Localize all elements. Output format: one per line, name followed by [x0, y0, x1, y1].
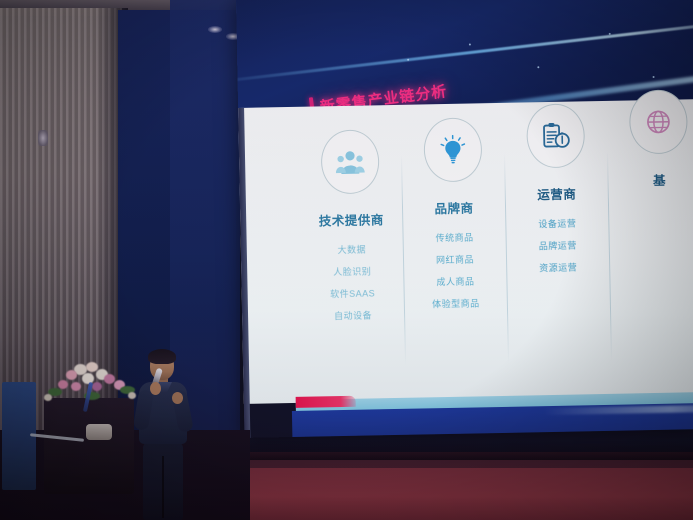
slide-footer-pink-accent [296, 396, 356, 408]
led-screen: 新零售产业链分析 技术提供商 大数据 [236, 0, 693, 438]
globe-grid-icon [629, 89, 688, 154]
slide-column-operator: 运营商 设备运营 品牌运营 资源运营 [504, 103, 612, 403]
column-item: 人脸识别 [330, 264, 375, 278]
column-title: 品牌商 [434, 197, 473, 217]
presenter-hair [148, 349, 176, 364]
presenter-right-hand [172, 392, 183, 404]
column-item: 自动设备 [330, 308, 375, 322]
column-item: 成人商品 [432, 274, 480, 288]
column-title: 技术提供商 [319, 209, 384, 229]
slide-column-infrastructure: 基 [607, 89, 693, 401]
users-group-icon [321, 129, 380, 194]
lightbulb-idea-icon [423, 117, 482, 182]
bokeh-dot [653, 76, 655, 78]
presenter-leg-split [162, 456, 164, 518]
column-item: 软件SAAS [330, 286, 375, 300]
presenter-left-hand [150, 382, 161, 395]
column-title: 基 [653, 170, 666, 189]
column-items: 大数据 人脸识别 软件SAAS 自动设备 [329, 242, 376, 322]
column-item: 大数据 [329, 242, 374, 256]
column-items: 设备运营 品牌运营 资源运营 [538, 217, 577, 275]
ceiling-light [208, 26, 222, 33]
slide-column-brand: 品牌商 传统商品 网红商品 成人商品 体验型商品 [401, 117, 508, 405]
column-item: 体验型商品 [432, 296, 480, 310]
column-item: 网红商品 [431, 252, 479, 266]
column-title: 运营商 [537, 184, 576, 204]
podium [44, 398, 134, 494]
slide-column-tech-provider: 技术提供商 大数据 人脸识别 软件SAAS 自动设备 [299, 129, 406, 407]
conference-photo: 新零售产业链分析 技术提供商 大数据 [0, 0, 693, 520]
column-item: 传统商品 [431, 230, 479, 244]
column-item: 设备运营 [538, 217, 576, 231]
bokeh-dot [609, 33, 611, 35]
slide-columns: 技术提供商 大数据 人脸识别 软件SAAS 自动设备 [298, 108, 693, 407]
stage-floor-red-carpet [215, 468, 693, 520]
column-item: 资源运营 [539, 261, 577, 275]
column-items: 传统商品 网红商品 成人商品 体验型商品 [431, 230, 480, 310]
bokeh-dot [407, 59, 409, 61]
column-item: 品牌运营 [539, 239, 577, 253]
presenter [130, 352, 202, 520]
bokeh-dot [469, 43, 471, 45]
clipboard-stopwatch-icon [526, 103, 585, 168]
white-object-on-table [86, 424, 112, 440]
wall-sconce-light [38, 130, 48, 146]
